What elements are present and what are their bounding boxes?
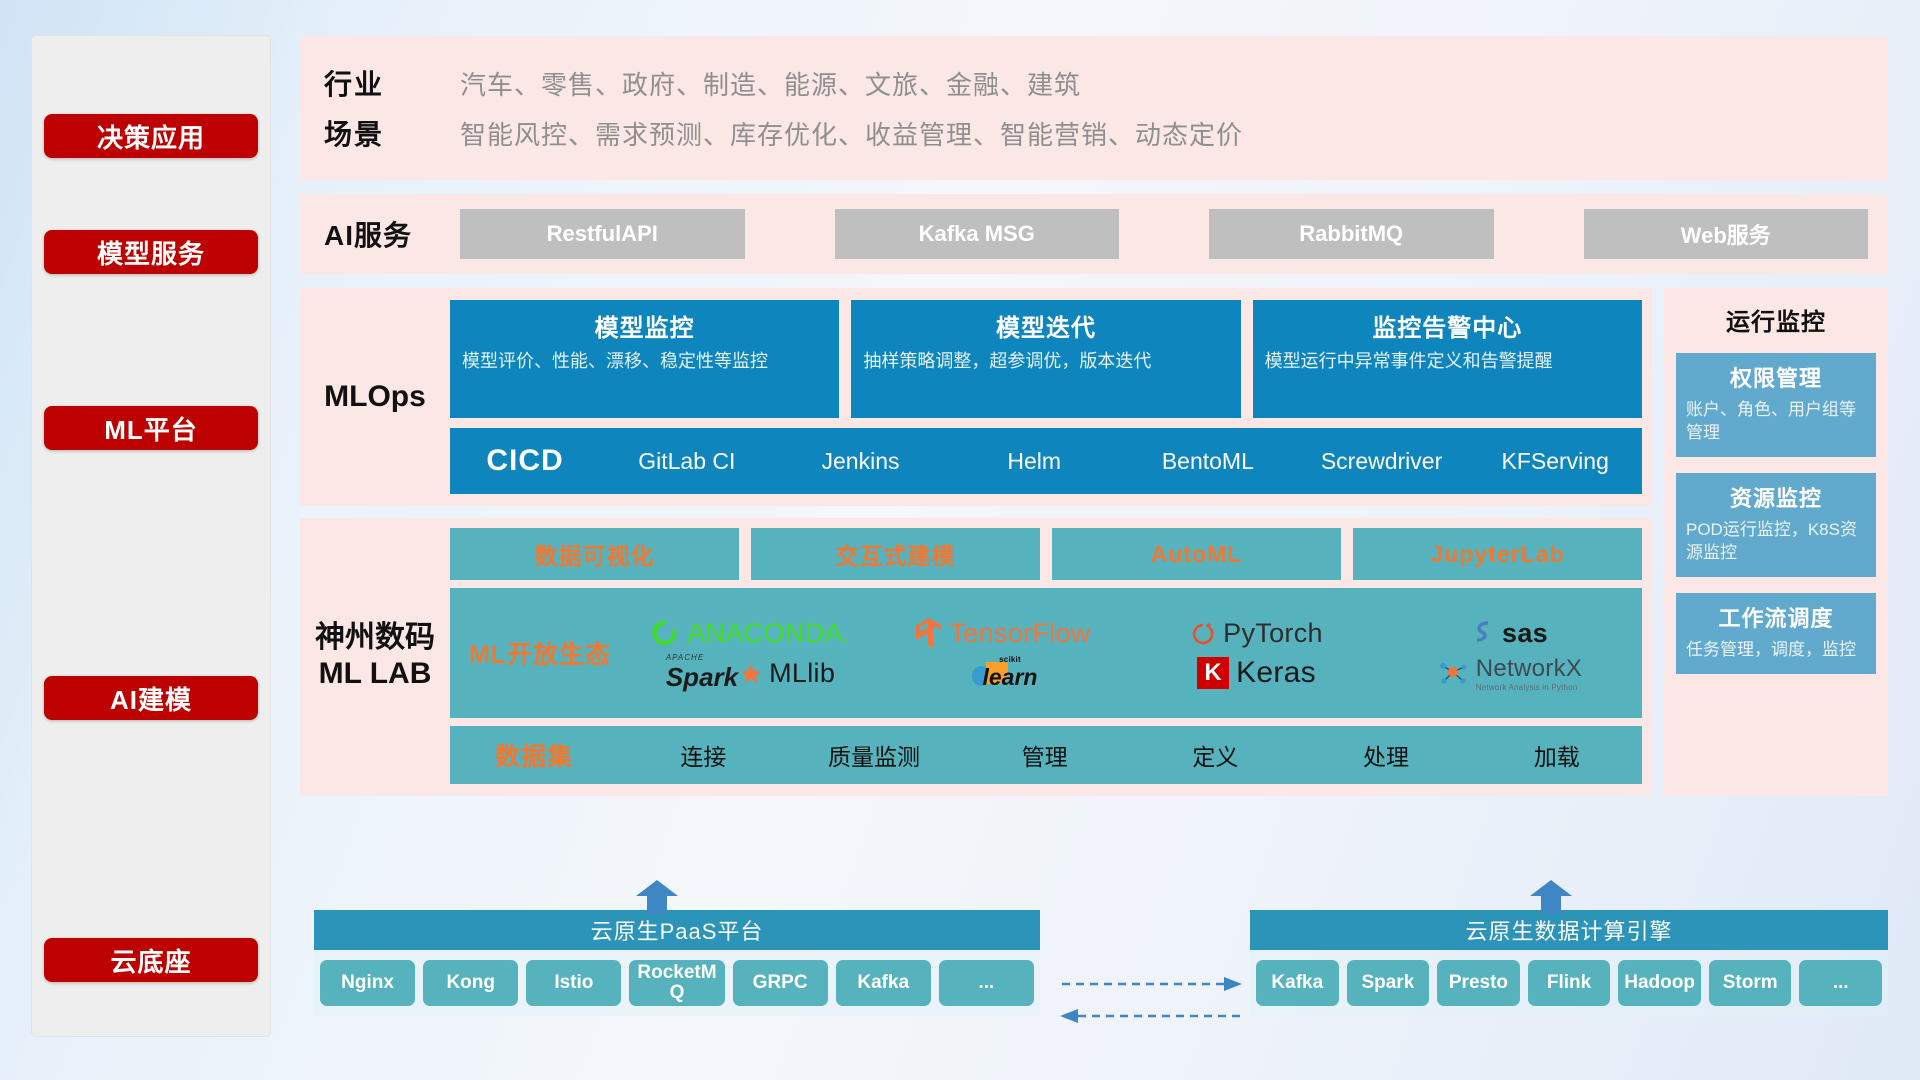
card-desc: 任务管理，调度，监控 (1686, 639, 1866, 662)
logo-spark-mllib: APACHE Spark MLlib (624, 653, 877, 693)
cloud-chip-kong[interactable]: Kong (423, 960, 518, 1006)
logo-networkx: NetworkX Network Analysis in Python (1383, 655, 1636, 692)
keras-icon: K (1197, 657, 1229, 689)
cloud-chip-nginx[interactable]: Nginx (320, 960, 415, 1006)
mlops-card-list: 模型监控 模型评价、性能、漂移、稳定性等监控 模型迭代 抽样策略调整，超参调优，… (450, 300, 1642, 418)
cloud-chip-hadoop[interactable]: Hadoop (1618, 960, 1701, 1006)
dataset-item-define[interactable]: 定义 (1130, 738, 1301, 772)
architecture-content: 行业 汽车、零售、政府、制造、能源、文旅、金融、建筑 场景 智能风控、需求预测、… (300, 36, 1888, 796)
up-arrow-icon-paas (636, 880, 678, 914)
cloud-paas-items: Nginx Kong Istio RocketMQ GRPC Kafka ... (314, 950, 1040, 1016)
ml-open-ecosystem-label: ML开放生态 (456, 635, 624, 671)
card-title: 资源监控 (1686, 481, 1866, 513)
tensorflow-icon (916, 618, 942, 648)
ai-service-label: AI服务 (324, 214, 460, 254)
logo-sas: sas (1383, 618, 1636, 649)
logo-label: learn (983, 664, 1038, 691)
dataset-item-connect[interactable]: 连接 (618, 738, 789, 772)
cloud-chip-flink[interactable]: Flink (1528, 960, 1611, 1006)
dataset-item-load[interactable]: 加载 (1471, 738, 1642, 772)
scikit-word: scikit (999, 655, 1021, 664)
ai-service-items: RestfulAPI Kafka MSG RabbitMQ Web服务 (460, 209, 1888, 259)
monitor-card-permission[interactable]: 权限管理 账户、角色、用户组等管理 (1676, 353, 1876, 457)
spark-icon: APACHE Spark (666, 653, 762, 693)
networkx-subtitle: Network Analysis in Python (1476, 683, 1578, 692)
card-title: 权限管理 (1686, 361, 1866, 393)
band-ai-service: AI服务 RestfulAPI Kafka MSG RabbitMQ Web服务 (300, 194, 1888, 274)
service-chip-kafka-msg[interactable]: Kafka MSG (835, 209, 1120, 259)
spark-apache-word: APACHE (666, 653, 704, 662)
mlops-caption: MLOps (300, 300, 450, 494)
cloud-chip-kafka[interactable]: Kafka (836, 960, 931, 1006)
card-desc: 模型运行中异常事件定义和告警提醒 (1265, 349, 1630, 373)
pytorch-icon (1190, 618, 1216, 648)
logo-label: ANACONDA. (687, 618, 850, 649)
spark-word: Spark (666, 662, 738, 693)
ml-open-ecosystem-row: ML开放生态 ANACONDA. (450, 588, 1642, 718)
industry-row: 行业 汽车、零售、政府、制造、能源、文旅、金融、建筑 (324, 58, 1888, 108)
mlops-card-alert-center[interactable]: 监控告警中心 模型运行中异常事件定义和告警提醒 (1253, 300, 1642, 418)
ml-lab-tabs: 数据可视化 交互式建模 AutoML JupyterLab (450, 528, 1642, 580)
cloud-engine-group: 云原生数据计算引擎 Kafka Spark Presto Flink Hadoo… (1250, 910, 1888, 1016)
cloud-chip-istio[interactable]: Istio (526, 960, 621, 1006)
dataset-row: 数据集 连接 质量监测 管理 定义 处理 加载 (450, 726, 1642, 784)
scenario-label: 场景 (324, 113, 460, 153)
cicd-item-screwdriver[interactable]: Screwdriver (1295, 449, 1469, 473)
band-decision-applications: 行业 汽车、零售、政府、制造、能源、文旅、金融、建筑 场景 智能风控、需求预测、… (300, 36, 1888, 180)
monitor-card-workflow[interactable]: 工作流调度 任务管理，调度，监控 (1676, 593, 1876, 674)
cloud-chip-more-engine[interactable]: ... (1799, 960, 1882, 1006)
dataset-item-process[interactable]: 处理 (1301, 738, 1472, 772)
stage-chip-decision[interactable]: 决策应用 (44, 114, 258, 158)
scenario-row: 场景 智能风控、需求预测、库存优化、收益管理、智能营销、动态定价 (324, 108, 1888, 158)
cloud-engine-items: Kafka Spark Presto Flink Hadoop Storm ..… (1250, 950, 1888, 1016)
tab-automl[interactable]: AutoML (1052, 528, 1341, 580)
cicd-item-kfserving[interactable]: KFServing (1468, 449, 1642, 473)
service-chip-web[interactable]: Web服务 (1584, 209, 1869, 259)
cicd-title: CICD (450, 444, 600, 478)
service-chip-rabbitmq[interactable]: RabbitMQ (1209, 209, 1494, 259)
cloud-chip-storm[interactable]: Storm (1709, 960, 1792, 1006)
networkx-icon (1437, 658, 1469, 688)
cloud-engine-title: 云原生数据计算引擎 (1250, 910, 1888, 950)
sas-icon (1471, 619, 1495, 647)
card-desc: 抽样策略调整，超参调优，版本迭代 (863, 349, 1228, 373)
platform-column: MLOps 模型监控 模型评价、性能、漂移、稳定性等监控 模型迭代 抽样策略调整… (300, 288, 1652, 796)
mlops-card-model-monitoring[interactable]: 模型监控 模型评价、性能、漂移、稳定性等监控 (450, 300, 839, 418)
ml-lab-caption: 神州数码 ML LAB (300, 528, 450, 784)
cloud-base-section: 云原生PaaS平台 Nginx Kong Istio RocketMQ GRPC… (300, 886, 1888, 1036)
dataset-item-quality[interactable]: 质量监测 (789, 738, 960, 772)
card-desc: 模型评价、性能、漂移、稳定性等监控 (462, 349, 827, 373)
cloud-paas-title: 云原生PaaS平台 (314, 910, 1040, 950)
cloud-chip-more[interactable]: ... (939, 960, 1034, 1006)
stage-chip-ml-platform[interactable]: ML平台 (44, 406, 258, 450)
ml-lab-caption-line2: ML LAB (319, 657, 432, 690)
logo-scikit-learn: scikit learn (877, 655, 1130, 691)
runtime-monitor-title: 运行监控 (1676, 302, 1876, 337)
tab-interactive-modeling[interactable]: 交互式建模 (751, 528, 1040, 580)
mlops-body: 模型监控 模型评价、性能、漂移、稳定性等监控 模型迭代 抽样策略调整，超参调优，… (450, 300, 1642, 494)
industry-label: 行业 (324, 63, 460, 103)
up-arrow-icon-engine (1530, 880, 1572, 914)
logo-label: MLlib (769, 658, 835, 689)
platform-and-monitor: MLOps 模型监控 模型评价、性能、漂移、稳定性等监控 模型迭代 抽样策略调整… (300, 288, 1888, 796)
card-title: 模型监控 (462, 308, 827, 343)
card-desc: POD运行监控，K8S资源监控 (1686, 519, 1866, 565)
anaconda-icon (650, 618, 680, 648)
ml-lab-caption-line1: 神州数码 (315, 621, 435, 654)
logo-label: TensorFlow (949, 618, 1090, 649)
cloud-chip-spark[interactable]: Spark (1347, 960, 1430, 1006)
stage-chip-ai-modeling[interactable]: AI建模 (44, 676, 258, 720)
logo-label: Keras (1236, 656, 1316, 690)
cicd-item-bentoml[interactable]: BentoML (1121, 449, 1295, 473)
bidirectional-dashed-connector (1058, 972, 1244, 1026)
cloud-chip-presto[interactable]: Presto (1437, 960, 1520, 1006)
card-title: 模型迭代 (863, 308, 1228, 343)
logo-label: sas (1502, 618, 1548, 649)
band-mlops: MLOps 模型监控 模型评价、性能、漂移、稳定性等监控 模型迭代 抽样策略调整… (300, 288, 1652, 506)
ml-lab-body: 数据可视化 交互式建模 AutoML JupyterLab ML开放生态 (450, 528, 1642, 784)
cloud-chip-rocketmq[interactable]: RocketMQ (629, 960, 724, 1006)
stage-chip-model-service[interactable]: 模型服务 (44, 230, 258, 274)
monitor-card-resource[interactable]: 资源监控 POD运行监控，K8S资源监控 (1676, 473, 1876, 577)
stage-rail: 决策应用 模型服务 ML平台 AI建模 云底座 (32, 36, 270, 1036)
card-desc: 账户、角色、用户组等管理 (1686, 399, 1866, 445)
cloud-paas-group: 云原生PaaS平台 Nginx Kong Istio RocketMQ GRPC… (314, 910, 1040, 1016)
logo-tensorflow: TensorFlow (877, 618, 1130, 649)
spark-star-icon (740, 663, 762, 685)
dataset-item-manage[interactable]: 管理 (959, 738, 1130, 772)
logo-label: PyTorch (1223, 618, 1323, 649)
logo-pytorch: PyTorch (1130, 618, 1383, 649)
logo-anaconda: ANACONDA. (624, 618, 877, 649)
logo-keras: K Keras (1130, 656, 1383, 690)
scenario-values: 智能风控、需求预测、库存优化、收益管理、智能营销、动态定价 (460, 115, 1243, 152)
cicd-row: CICD GitLab CI Jenkins Helm BentoML Scre… (450, 428, 1642, 494)
logo-label: NetworkX (1476, 655, 1582, 683)
industry-values: 汽车、零售、政府、制造、能源、文旅、金融、建筑 (460, 65, 1081, 102)
cicd-item-gitlab-ci[interactable]: GitLab CI (600, 449, 774, 473)
band-ai-modeling: 神州数码 ML LAB 数据可视化 交互式建模 AutoML JupyterLa… (300, 518, 1652, 796)
tab-data-visualization[interactable]: 数据可视化 (450, 528, 739, 580)
service-chip-restfulapi[interactable]: RestfulAPI (460, 209, 745, 259)
mlops-card-model-iteration[interactable]: 模型迭代 抽样策略调整，超参调优，版本迭代 (851, 300, 1240, 418)
runtime-monitor-panel: 运行监控 权限管理 账户、角色、用户组等管理 资源监控 POD运行监控，K8S资… (1664, 288, 1888, 796)
tab-jupyterlab[interactable]: JupyterLab (1353, 528, 1642, 580)
card-title: 工作流调度 (1686, 601, 1866, 633)
cloud-chip-kafka-engine[interactable]: Kafka (1256, 960, 1339, 1006)
stage-chip-cloud-base[interactable]: 云底座 (44, 938, 258, 982)
card-title: 监控告警中心 (1265, 308, 1630, 343)
cicd-item-helm[interactable]: Helm (947, 449, 1121, 473)
cloud-chip-grpc[interactable]: GRPC (733, 960, 828, 1006)
dataset-title: 数据集 (450, 737, 618, 773)
cicd-item-jenkins[interactable]: Jenkins (774, 449, 948, 473)
ecosystem-logo-grid: ANACONDA. TensorFlow (624, 613, 1636, 693)
